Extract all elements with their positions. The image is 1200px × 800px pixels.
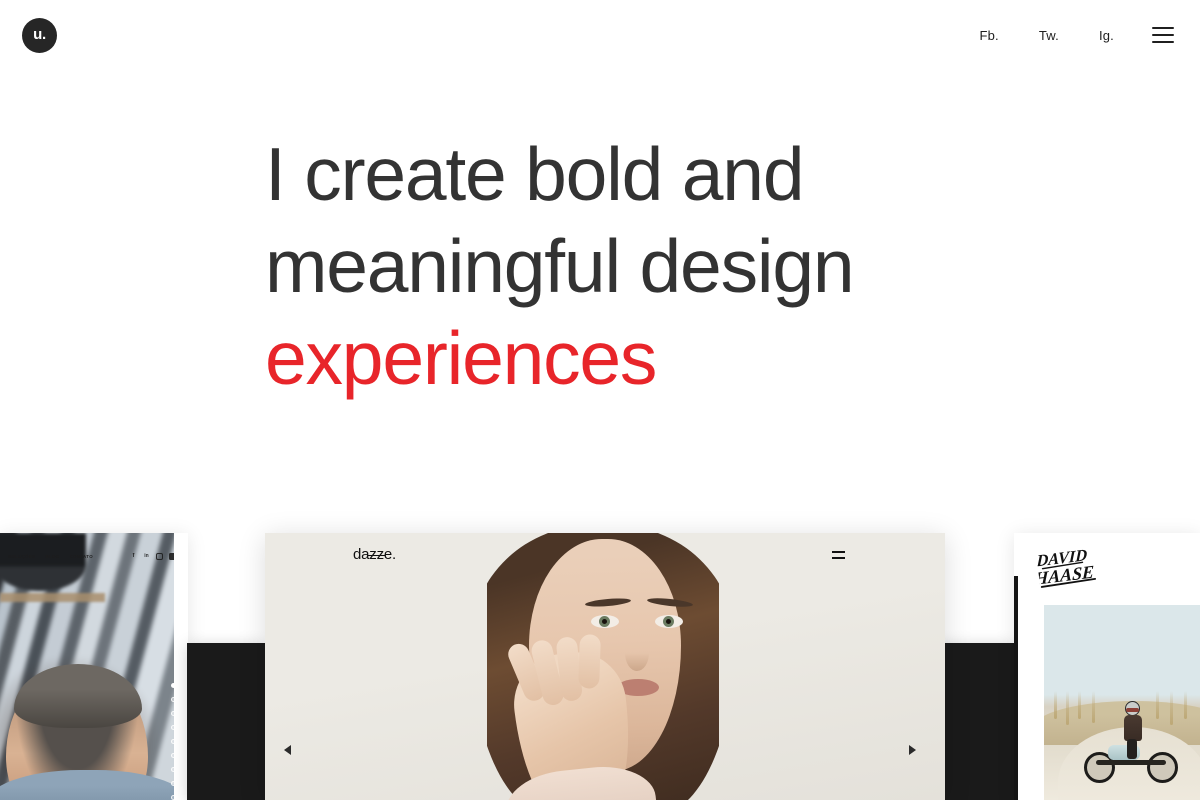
- left-card-right-margin: [174, 533, 188, 800]
- dark-panel-right: [937, 643, 1015, 800]
- woman-portrait-image: [487, 533, 719, 800]
- facebook-icon[interactable]: f: [130, 553, 137, 560]
- burger-line-1: [1152, 27, 1174, 29]
- logo-text: u.: [33, 27, 46, 42]
- grass-4: [1092, 691, 1095, 723]
- rider-figure: [1124, 701, 1142, 753]
- burger-line-3: [1152, 41, 1174, 43]
- nav-item-blog[interactable]: BLOG: [45, 554, 59, 559]
- nav-item-contato[interactable]: CONTATO: [70, 554, 93, 559]
- grass-6: [1170, 691, 1173, 725]
- jacket-shape: [1124, 715, 1142, 741]
- hero-line-1: I create bold and: [265, 128, 1165, 220]
- motorcycle-frame: [1096, 760, 1166, 765]
- hamburger-menu-icon[interactable]: [1152, 27, 1174, 43]
- site-header: u. Fb. Tw. Ig.: [0, 0, 1200, 70]
- grass-7: [1184, 691, 1187, 719]
- two-line-menu-icon[interactable]: [832, 551, 845, 559]
- carousel-next-arrow[interactable]: [909, 745, 916, 755]
- hero-heading: I create bold and meaningful design expe…: [265, 128, 1165, 404]
- left-card-social-icons: f in: [130, 553, 176, 560]
- eyebrow-left: [585, 597, 631, 608]
- right-card-left-edge: [1014, 576, 1018, 800]
- dazze-logo-suffix: e.: [384, 546, 396, 563]
- finger-4: [578, 634, 601, 689]
- hero-line-3-accent: experiences: [265, 312, 1165, 404]
- grass-5: [1156, 691, 1159, 719]
- left-card-navbar: SOLUÇÕES BLOG CONTATO f in: [0, 543, 188, 569]
- leg-shape: [1127, 739, 1137, 759]
- facebook-link[interactable]: Fb.: [959, 28, 1018, 43]
- david-haase-logo: DAVID HAASE: [1035, 536, 1130, 597]
- burger-line-2: [1152, 34, 1174, 36]
- portfolio-landing-page: u. Fb. Tw. Ig. I create bold and meaning…: [0, 0, 1200, 800]
- project-card-david-haase[interactable]: DAVID HAASE: [1014, 533, 1200, 800]
- project-card-dazze[interactable]: dazze.: [265, 533, 945, 800]
- menu-line-1: [832, 551, 845, 553]
- wheel-rear: [1147, 752, 1178, 783]
- project-showcase: SOLUÇÕES BLOG CONTATO f in: [0, 490, 1200, 800]
- shelf-shape: [0, 593, 105, 602]
- instagram-icon[interactable]: [156, 553, 163, 560]
- twitter-link[interactable]: Tw.: [1019, 28, 1079, 43]
- left-card-nav-links: SOLUÇÕES BLOG CONTATO: [8, 554, 93, 559]
- nav-item-solucoes[interactable]: SOLUÇÕES: [8, 554, 35, 559]
- dazze-logo-prefix: da: [353, 546, 369, 563]
- eye-left: [591, 615, 619, 628]
- grass-3: [1078, 691, 1081, 719]
- dark-panel-left: [187, 643, 265, 800]
- visor-shape: [1126, 708, 1139, 712]
- carousel-prev-arrow[interactable]: [284, 745, 291, 755]
- eye-right: [655, 615, 683, 628]
- dazze-logo[interactable]: dazze.: [353, 546, 396, 563]
- menu-line-2: [832, 557, 845, 559]
- instagram-link[interactable]: Ig.: [1079, 28, 1134, 43]
- nose-shape: [625, 635, 649, 671]
- u-logo[interactable]: u.: [22, 18, 57, 53]
- dazze-logo-strike: zz: [369, 546, 384, 563]
- grass-1: [1054, 691, 1057, 719]
- hero-line-2: meaningful design: [265, 220, 1165, 312]
- grass-2: [1066, 691, 1069, 725]
- header-nav: Fb. Tw. Ig.: [959, 27, 1174, 43]
- motorcycle-dune-image: [1044, 605, 1200, 800]
- project-card-left[interactable]: SOLUÇÕES BLOG CONTATO f in: [0, 533, 188, 800]
- linkedin-icon[interactable]: in: [143, 553, 150, 560]
